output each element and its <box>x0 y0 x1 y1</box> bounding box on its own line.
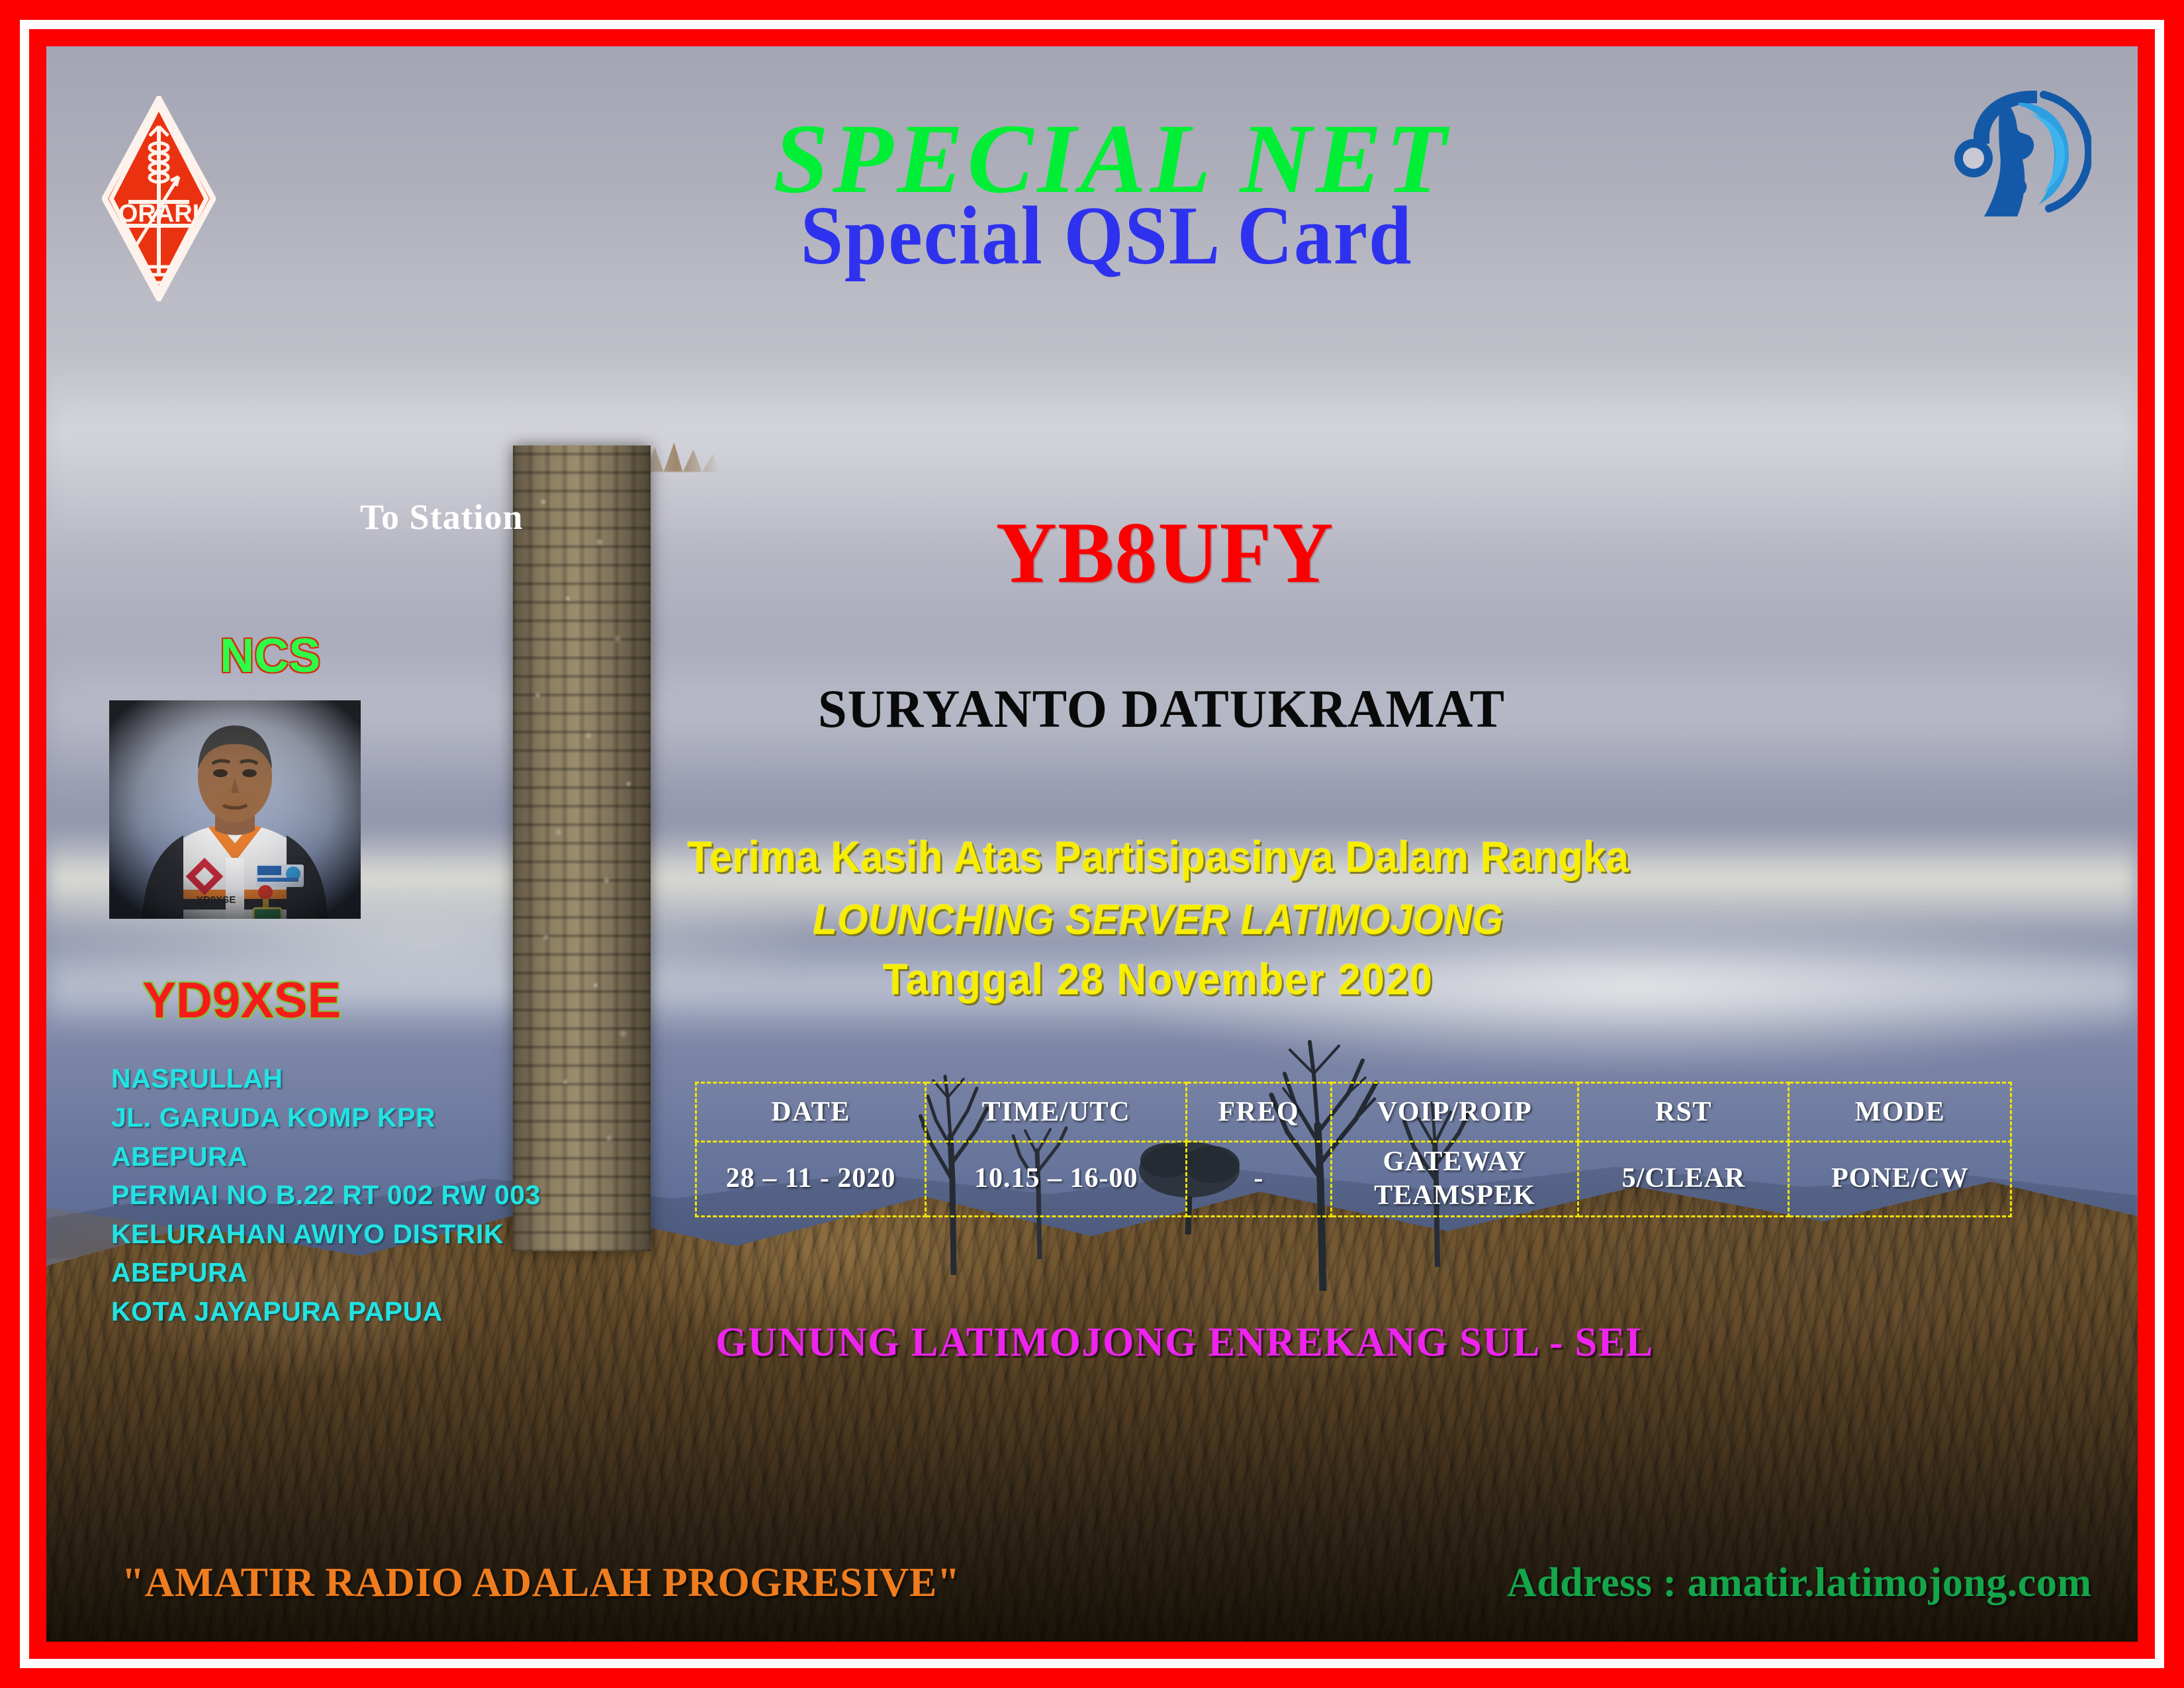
ncs-operator-photo: YD9XSE <box>109 700 361 919</box>
cell-rst: 5/CLEAR <box>1578 1142 1789 1217</box>
mailing-address-block: NASRULLAH JL. GARUDA KOMP KPR ABEPURA PE… <box>111 1059 541 1331</box>
page-subtitle: Special QSL Card <box>801 195 1413 278</box>
ncs-label: NCS <box>220 629 320 683</box>
orari-logo-text: ORARI <box>118 200 199 228</box>
ncs-callsign: YD9XSE <box>142 972 341 1029</box>
station-callsign: YB8UFY <box>996 509 1334 596</box>
background-photograph: ORARI <box>46 46 2138 1642</box>
table-row: 28 – 11 - 2020 10.15 – 16-00 - GATEWAY T… <box>696 1142 2011 1217</box>
cell-voip-line-2: TEAMSPEK <box>1333 1179 1577 1213</box>
location-line: GUNUNG LATIMOJONG ENREKANG SUL - SEL <box>715 1319 1653 1366</box>
qso-log-table: DATE TIME/UTC FREQ VOIP/ROIP RST MODE 28… <box>695 1082 2013 1217</box>
cell-time: 10.15 – 16-00 <box>926 1142 1187 1217</box>
to-station-label: To Station <box>360 496 523 538</box>
qsl-card: ORARI <box>0 0 2184 1688</box>
table-header-row: DATE TIME/UTC FREQ VOIP/ROIP RST MODE <box>696 1083 2011 1142</box>
address-line: KOTA JAYAPURA PAPUA <box>111 1292 541 1331</box>
orari-diamond-logo: ORARI <box>102 96 216 301</box>
cell-freq: - <box>1187 1142 1332 1217</box>
cell-mode: PONE/CW <box>1789 1142 2011 1217</box>
cell-date: 28 – 11 - 2020 <box>696 1142 926 1217</box>
cell-voip-line-1: GATEWAY <box>1333 1145 1577 1179</box>
column-header-date: DATE <box>696 1083 926 1142</box>
column-header-rst: RST <box>1578 1083 1789 1142</box>
motto-text: "AMATIR RADIO ADALAH PROGRESIVE" <box>122 1560 960 1607</box>
card-frame-white-gap: ORARI <box>20 20 2164 1668</box>
thanks-line-2: LOUNCHING SERVER LATIMOJONG <box>813 895 1503 944</box>
headset-operator-radio-waves-logo <box>1939 80 2091 222</box>
cell-voip: GATEWAY TEAMSPEK <box>1331 1142 1578 1217</box>
column-header-voip: VOIP/ROIP <box>1331 1083 1578 1142</box>
address-line: PERMAI NO B.22 RT 002 RW 003 <box>111 1176 541 1215</box>
event-date-line: Tanggal 28 November 2020 <box>883 954 1433 1004</box>
card-content: ORARI <box>46 46 2138 1642</box>
address-line: KELURAHAN AWIYO DISTRIK <box>111 1215 541 1254</box>
column-header-time: TIME/UTC <box>926 1083 1187 1142</box>
column-header-freq: FREQ <box>1187 1083 1332 1142</box>
address-line: JL. GARUDA KOMP KPR <box>111 1098 541 1137</box>
operator-name: SURYANTO DATUKRAMAT <box>818 678 1505 740</box>
address-line: NASRULLAH <box>111 1059 541 1098</box>
thanks-line-1: Terima Kasih Atas Partisipasinya Dalam R… <box>687 831 1629 882</box>
address-line: ABEPURA <box>111 1253 541 1292</box>
address-line: ABEPURA <box>111 1137 541 1176</box>
web-address-text: Address : amatir.latimojong.com <box>1507 1560 2091 1607</box>
column-header-mode: MODE <box>1789 1083 2011 1142</box>
card-frame-inner-red: ORARI <box>29 29 2155 1659</box>
